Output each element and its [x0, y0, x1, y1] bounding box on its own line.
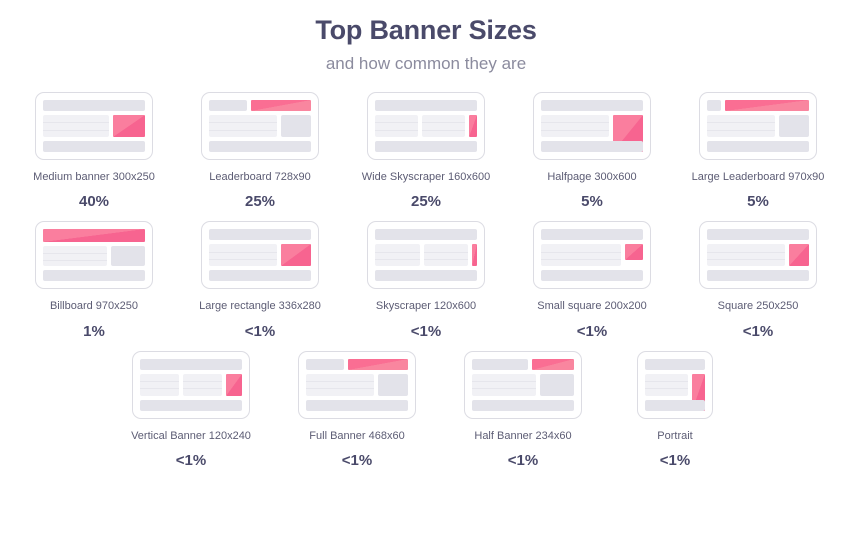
banner-wireframe: [699, 92, 817, 160]
text-block: [707, 244, 785, 266]
banner-row: Billboard 970x2501%Large rectangle 336x2…: [0, 221, 852, 338]
banner-percentage: 25%: [245, 194, 275, 209]
banner-percentage: <1%: [411, 324, 441, 339]
banner-wireframe: [533, 221, 651, 289]
sidebar-block: [540, 374, 574, 396]
ad-placement-pink: [281, 244, 311, 266]
banner-percentage: <1%: [660, 453, 690, 468]
sidebar-block: [378, 374, 408, 396]
page-content-row: [209, 244, 311, 266]
banner-wireframe: [298, 351, 416, 419]
banner-percentage: 5%: [747, 194, 769, 209]
ad-placement-pink: [789, 244, 809, 266]
text-block: [424, 244, 469, 266]
banner-percentage: <1%: [342, 453, 372, 468]
banner-card[interactable]: Wide Skyscraper 160x60025%: [367, 92, 485, 209]
banner-label: Half Banner 234x60: [474, 430, 571, 443]
page-content-row: [375, 115, 477, 137]
page-header-bar: [375, 229, 477, 240]
banner-percentage: 40%: [79, 194, 109, 209]
banner-card[interactable]: Half Banner 234x60<1%: [464, 351, 582, 468]
banner-label: Large Leaderboard 970x90: [692, 171, 825, 184]
page-header-bar: [209, 229, 311, 240]
text-block: [472, 374, 536, 396]
page-header: Top Banner Sizes and how common they are: [0, 0, 852, 74]
page-content-row: [472, 374, 574, 396]
banner-percentage: <1%: [245, 324, 275, 339]
page-footer-bar: [541, 141, 643, 152]
ad-placement-pink: [251, 100, 311, 111]
page-footer-bar: [472, 400, 574, 411]
nav-block: [707, 100, 721, 111]
page-footer-bar: [43, 270, 145, 281]
banner-card[interactable]: Full Banner 468x60<1%: [298, 351, 416, 468]
page-header-row: [306, 359, 408, 370]
page-header-bar: [707, 229, 809, 240]
page-footer-bar: [43, 141, 145, 152]
page-content-row: [541, 244, 643, 266]
banner-label: Square 250x250: [718, 300, 799, 313]
page-content-row: [43, 115, 145, 137]
banner-card[interactable]: Medium banner 300x25040%: [35, 92, 153, 209]
page-header-bar: [541, 229, 643, 240]
text-block: [183, 374, 222, 396]
banner-grid: Medium banner 300x25040%Leaderboard 728x…: [0, 92, 852, 468]
nav-block: [209, 100, 247, 111]
page-footer-bar: [707, 141, 809, 152]
banner-wireframe: [367, 92, 485, 160]
ad-placement-pink: [725, 100, 809, 111]
page-content-row: [209, 115, 311, 137]
banner-wireframe: [367, 221, 485, 289]
page-content-row: [43, 246, 145, 266]
sidebar-block: [281, 115, 311, 137]
text-block: [306, 374, 374, 396]
text-block: [140, 374, 179, 396]
page-header-row: [209, 100, 311, 111]
page-header-row: [707, 100, 809, 111]
text-block: [645, 374, 688, 396]
banner-label: Halfpage 300x600: [547, 171, 636, 184]
page-header-bar: [375, 100, 477, 111]
banner-label: Billboard 970x250: [50, 300, 138, 313]
banner-label: Leaderboard 728x90: [209, 171, 311, 184]
text-block: [375, 244, 420, 266]
text-block: [209, 115, 277, 137]
ad-placement-pink: [532, 359, 574, 370]
banner-row: Vertical Banner 120x240<1%Full Banner 46…: [0, 351, 852, 468]
banner-percentage: 1%: [83, 324, 105, 339]
banner-percentage: 5%: [581, 194, 603, 209]
page-header-bar: [645, 359, 705, 370]
text-block: [541, 244, 621, 266]
banner-wireframe: [132, 351, 250, 419]
page-header-bar: [43, 100, 145, 111]
page-footer-bar: [375, 270, 477, 281]
text-block: [43, 115, 109, 137]
ad-placement-pink: [472, 244, 477, 266]
banner-row: Medium banner 300x25040%Leaderboard 728x…: [0, 92, 852, 209]
ad-placement-pink: [113, 115, 145, 137]
page-title: Top Banner Sizes: [0, 14, 852, 48]
nav-block: [472, 359, 528, 370]
banner-card[interactable]: Large rectangle 336x280<1%: [201, 221, 319, 338]
page-content-row: [541, 115, 643, 137]
text-block: [43, 246, 107, 266]
banner-label: Medium banner 300x250: [33, 171, 155, 184]
text-block: [209, 244, 277, 266]
banner-percentage: 25%: [411, 194, 441, 209]
banner-wireframe: [637, 351, 713, 419]
text-block: [375, 115, 418, 137]
banner-card[interactable]: Billboard 970x2501%: [35, 221, 153, 338]
text-block: [541, 115, 609, 137]
page-header-bar: [541, 100, 643, 111]
banner-wireframe: [35, 92, 153, 160]
banner-card[interactable]: Leaderboard 728x9025%: [201, 92, 319, 209]
banner-card[interactable]: Square 250x250<1%: [699, 221, 817, 338]
page-header-row: [472, 359, 574, 370]
banner-card[interactable]: Large Leaderboard 970x905%: [699, 92, 817, 209]
nav-block: [306, 359, 344, 370]
banner-wireframe: [533, 92, 651, 160]
banner-label: Portrait: [657, 430, 692, 443]
page-footer-bar: [209, 141, 311, 152]
banner-label: Skyscraper 120x600: [376, 300, 476, 313]
sidebar-block: [111, 246, 145, 266]
page-content-row: [645, 374, 705, 396]
banner-label: Full Banner 468x60: [309, 430, 404, 443]
text-block: [707, 115, 775, 137]
banner-percentage: <1%: [508, 453, 538, 468]
text-block: [422, 115, 465, 137]
ad-placement-pink: [348, 359, 408, 370]
page-footer-bar: [707, 270, 809, 281]
ad-placement-pink: [469, 115, 477, 137]
page-content-row: [375, 244, 477, 266]
page-content-row: [140, 374, 242, 396]
banner-percentage: <1%: [743, 324, 773, 339]
page-footer-bar: [209, 270, 311, 281]
page-footer-bar: [306, 400, 408, 411]
banner-label: Vertical Banner 120x240: [131, 430, 251, 443]
banner-card[interactable]: Skyscraper 120x600<1%: [367, 221, 485, 338]
banner-card[interactable]: Halfpage 300x6005%: [533, 92, 651, 209]
page-header-bar: [140, 359, 242, 370]
banner-card[interactable]: Vertical Banner 120x240<1%: [132, 351, 250, 468]
banner-wireframe: [201, 92, 319, 160]
page-subtitle: and how common they are: [0, 54, 852, 74]
banner-card[interactable]: Small square 200x200<1%: [533, 221, 651, 338]
banner-wireframe: [201, 221, 319, 289]
ad-placement-pink: [625, 244, 643, 259]
banner-percentage: <1%: [577, 324, 607, 339]
page-footer-bar: [140, 400, 242, 411]
ad-placement-pink: [43, 229, 145, 242]
page-content-row: [306, 374, 408, 396]
banner-card[interactable]: Portrait<1%: [630, 351, 720, 468]
banner-wireframe: [699, 221, 817, 289]
sidebar-block: [779, 115, 809, 137]
ad-placement-pink: [226, 374, 242, 396]
page-content-row: [707, 115, 809, 137]
banner-label: Large rectangle 336x280: [199, 300, 321, 313]
banner-percentage: <1%: [176, 453, 206, 468]
page-footer-bar: [541, 270, 643, 281]
banner-label: Small square 200x200: [537, 300, 646, 313]
page-content-row: [707, 244, 809, 266]
banner-wireframe: [464, 351, 582, 419]
page-footer-bar: [645, 400, 705, 411]
page-footer-bar: [375, 141, 477, 152]
banner-wireframe: [35, 221, 153, 289]
banner-label: Wide Skyscraper 160x600: [362, 171, 490, 184]
